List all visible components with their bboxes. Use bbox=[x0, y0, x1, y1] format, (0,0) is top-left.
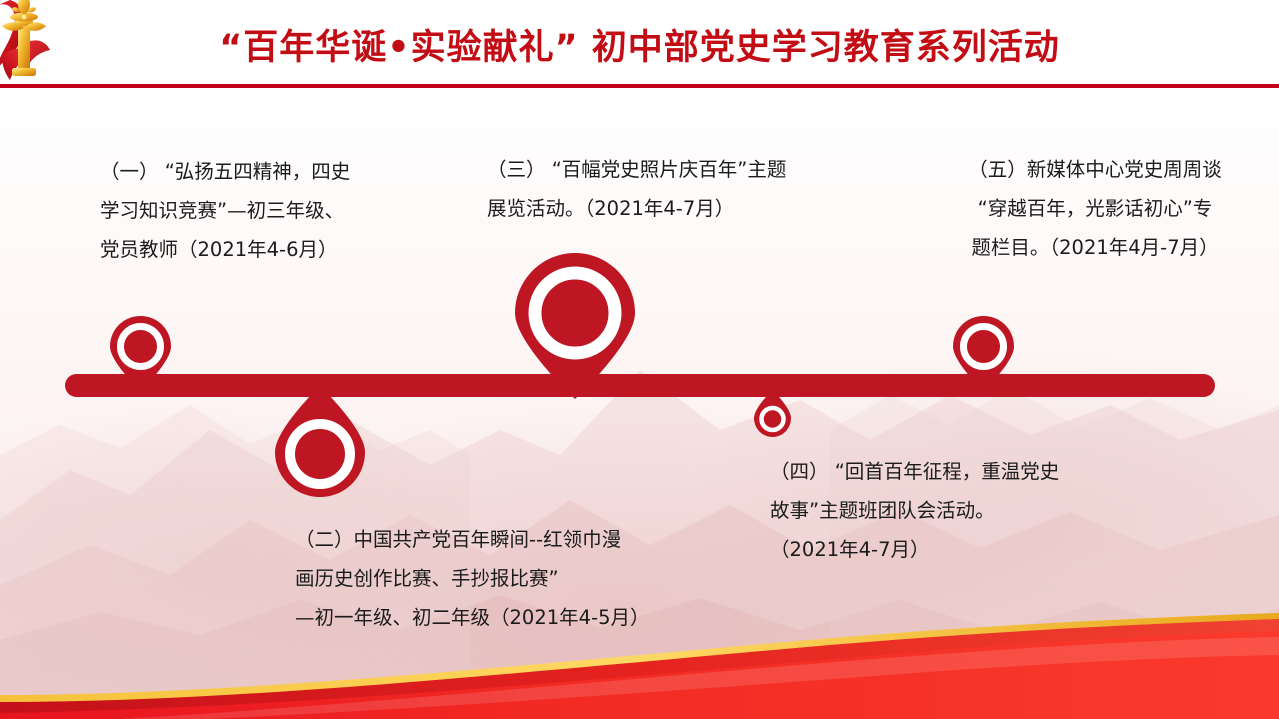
timeline-marker-4-pin-icon[interactable] bbox=[751, 390, 794, 442]
slide-canvas: “百年华诞•实验献礼” 初中部党史学习教育系列活动 bbox=[0, 0, 1279, 719]
page-title: “百年华诞•实验献礼” 初中部党史学习教育系列活动 bbox=[0, 26, 1279, 70]
slide-header: “百年华诞•实验献礼” 初中部党史学习教育系列活动 bbox=[0, 0, 1279, 88]
huabiao-emblem-icon bbox=[0, 0, 104, 88]
timeline-bar bbox=[65, 374, 1215, 397]
activity-item-5-text: （五）新媒体中心党史周周谈 “穿越百年，光影话初心”专 题栏目。（2021年4月… bbox=[925, 150, 1265, 267]
timeline-marker-2-pin-icon[interactable] bbox=[266, 386, 374, 502]
activity-item-3-text: （三） “百幅党史照片庆百年”主题 展览活动。（2021年4-7月） bbox=[487, 150, 897, 228]
header-divider-rule bbox=[0, 84, 1279, 88]
activity-item-4-text: （四） “回首百年征程，重温党史 故事”主题班团队会活动。 （2021年4-7月… bbox=[770, 452, 1150, 569]
activity-item-1-text: （一） “弘扬五四精神，四史 学习知识竞赛”—初三年级、 党员教师（2021年4… bbox=[100, 152, 440, 269]
activity-item-2-text: （二）中国共产党百年瞬间--红领巾漫 画历史创作比赛、手抄报比赛” —初一年级、… bbox=[295, 520, 735, 637]
